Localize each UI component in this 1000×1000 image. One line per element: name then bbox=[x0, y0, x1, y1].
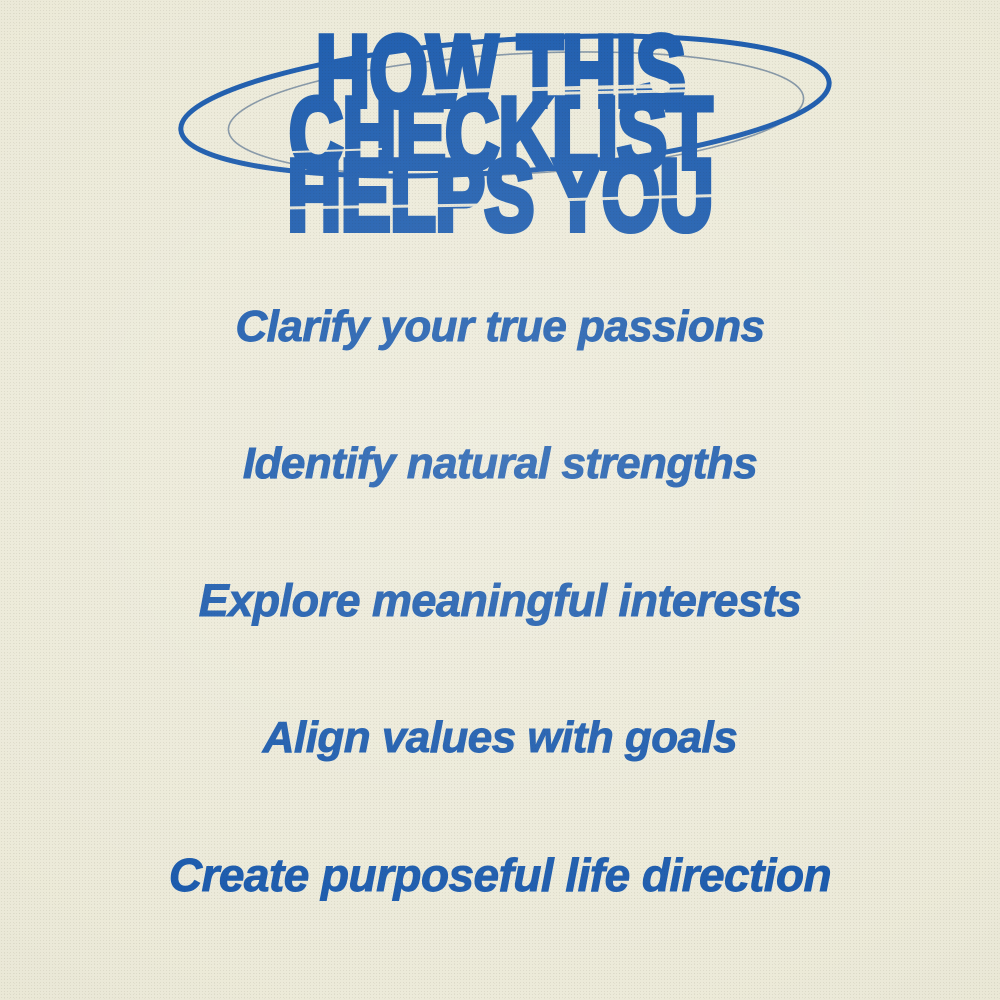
list-item-label: Create purposeful life direction bbox=[169, 852, 831, 898]
list-item: Identify natural strengths bbox=[0, 395, 1000, 532]
title-line-3-text: HELPS YOU bbox=[287, 154, 712, 239]
list-item-label: Identify natural strengths bbox=[243, 442, 757, 486]
list-item: Align values with goals bbox=[0, 669, 1000, 806]
title-line-3: HELPS YOU bbox=[0, 158, 1000, 235]
poster-canvas: HOW THIS CHECKLIST HELPS YOU Clarify you… bbox=[0, 0, 1000, 1000]
checklist-benefits: Clarify your true passions Identify natu… bbox=[0, 258, 1000, 943]
page-title: HOW THIS CHECKLIST HELPS YOU bbox=[0, 34, 1000, 234]
list-item: Create purposeful life direction bbox=[0, 806, 1000, 943]
list-item: Explore meaningful interests bbox=[0, 532, 1000, 669]
list-item: Clarify your true passions bbox=[0, 258, 1000, 395]
list-item-label: Explore meaningful interests bbox=[199, 578, 802, 623]
list-item-label: Clarify your true passions bbox=[235, 305, 764, 349]
list-item-label: Align values with goals bbox=[263, 716, 737, 760]
